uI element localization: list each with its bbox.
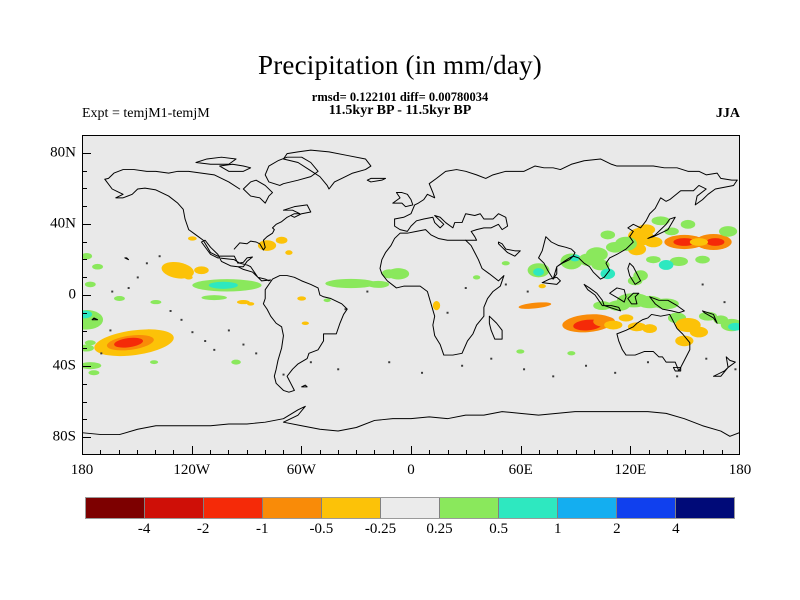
anomaly-contour-patch	[690, 327, 708, 338]
y-tick	[82, 419, 87, 420]
y-axis-label: 40S	[38, 358, 76, 375]
colorbar-segment-1[interactable]	[145, 498, 204, 518]
map-speckle	[180, 319, 182, 321]
map-speckle	[734, 368, 736, 370]
coastline	[380, 230, 504, 355]
coastline	[713, 357, 735, 376]
season-label: JJA	[716, 106, 740, 122]
colorbar-label-5: 0.25	[426, 521, 452, 538]
map-speckle	[421, 372, 423, 374]
anomaly-contour-patch	[706, 238, 724, 246]
colorbar-segment-2[interactable]	[204, 498, 263, 518]
map-speckle	[552, 375, 554, 377]
x-axis-label: 60W	[287, 462, 316, 479]
y-tick	[82, 153, 91, 154]
x-tick	[210, 450, 211, 455]
x-tick	[649, 450, 650, 455]
anomaly-contour-patch	[601, 231, 616, 240]
map-speckle	[159, 255, 161, 257]
anomaly-contour-patch	[473, 275, 480, 279]
anomaly-contour-patch	[231, 360, 240, 365]
map-speckle	[527, 291, 529, 293]
anomaly-contour-patch	[619, 314, 634, 321]
map-speckle	[702, 284, 704, 286]
anomaly-contour-patch	[276, 237, 288, 244]
x-tick	[576, 450, 577, 455]
colorbar-label-1: -2	[197, 521, 210, 538]
x-axis-label: 0	[407, 462, 415, 479]
y-tick	[82, 437, 91, 438]
anomaly-contour-patch	[150, 300, 161, 304]
anomaly-contour-patch	[88, 370, 99, 375]
page-title: Precipitation (in mm/day)	[0, 50, 800, 81]
map-speckle	[647, 361, 649, 363]
x-axis-label: 120E	[614, 462, 646, 479]
x-axis-label: 120W	[173, 462, 210, 479]
map-speckle	[585, 365, 587, 367]
x-tick	[374, 450, 375, 455]
map-speckle	[111, 291, 113, 293]
x-tick	[301, 446, 302, 455]
anomaly-contour-patch	[681, 220, 696, 229]
anomaly-contour-patch	[201, 295, 227, 300]
x-tick	[338, 450, 339, 455]
coastline	[105, 170, 240, 189]
anomaly-contour-patch	[502, 261, 510, 265]
y-tick	[82, 259, 87, 260]
y-tick	[82, 402, 87, 403]
x-tick	[320, 450, 321, 455]
x-axis-label: 180	[71, 462, 94, 479]
y-axis-label: 80S	[38, 429, 76, 446]
x-tick	[448, 450, 449, 455]
coastline	[393, 193, 413, 207]
anomaly-contour-patch	[675, 336, 693, 347]
map-speckle	[146, 262, 148, 264]
anomaly-contour-patch	[690, 238, 708, 246]
map-speckle	[465, 287, 467, 289]
x-tick	[594, 450, 595, 455]
y-tick	[82, 348, 87, 349]
x-tick	[667, 450, 668, 455]
coastline	[542, 277, 560, 284]
colorbar-segment-3[interactable]	[263, 498, 322, 518]
x-axis-label: 60E	[509, 462, 533, 479]
x-tick	[630, 446, 631, 455]
anomaly-contour-patch	[606, 242, 624, 253]
colorbar-label-9: 4	[672, 521, 680, 538]
figure-canvas: Precipitation (in mm/day) rmsd= 0.122101…	[0, 0, 800, 600]
coastline	[243, 180, 272, 203]
y-tick	[82, 277, 87, 278]
y-axis-label: 40N	[38, 215, 76, 232]
map-speckle	[228, 329, 230, 331]
anomaly-contour-patch	[150, 360, 158, 364]
colorbar-segment-7[interactable]	[499, 498, 558, 518]
anomaly-contour-patch	[185, 275, 193, 279]
colorbar-segment-4[interactable]	[322, 498, 381, 518]
colorbar-label-2: -1	[256, 521, 269, 538]
map-speckle	[109, 329, 111, 331]
x-tick	[521, 446, 522, 455]
map-speckle	[213, 349, 215, 351]
map-speckle	[170, 310, 172, 312]
colorbar[interactable]	[85, 497, 735, 519]
coastline	[367, 178, 385, 182]
anomaly-contour-patch	[539, 284, 546, 288]
y-axis-label: 80N	[38, 144, 76, 161]
x-tick	[612, 450, 613, 455]
x-tick	[466, 450, 467, 455]
x-tick	[247, 450, 248, 455]
anomaly-contour-patch	[567, 351, 575, 355]
y-tick	[82, 295, 91, 296]
colorbar-segment-0[interactable]	[86, 498, 145, 518]
map-speckle	[447, 312, 449, 314]
anomaly-contour-patch	[285, 250, 292, 255]
y-tick	[82, 366, 91, 367]
colorbar-segments[interactable]	[85, 497, 735, 519]
y-tick	[82, 313, 87, 314]
anomaly-contour-patch	[92, 264, 103, 270]
coastline	[395, 214, 508, 241]
map-speckle	[283, 374, 285, 376]
y-tick	[82, 331, 87, 332]
colorbar-label-4: -0.25	[365, 521, 396, 538]
map-speckle	[523, 368, 525, 370]
coastline	[125, 258, 129, 260]
anomaly-contour-patch	[642, 324, 657, 333]
map-speckle	[204, 340, 206, 342]
coastline	[283, 150, 370, 189]
anomaly-contour-patch	[85, 282, 96, 288]
colorbar-label-7: 1	[554, 521, 562, 538]
anomaly-contour-patch	[664, 228, 679, 236]
x-tick	[119, 450, 120, 455]
x-tick	[356, 450, 357, 455]
x-tick	[502, 450, 503, 455]
x-tick	[484, 450, 485, 455]
y-tick	[82, 224, 91, 225]
map-speckle	[310, 361, 312, 363]
x-axis-label: 180	[729, 462, 752, 479]
coastline	[196, 157, 236, 164]
anomaly-contour-patch	[719, 226, 737, 237]
map-speckle	[490, 358, 492, 360]
x-tick	[703, 450, 704, 455]
map-speckle	[100, 352, 102, 354]
map-speckle	[461, 365, 463, 367]
anomaly-contour-patch	[652, 216, 670, 225]
map-speckle	[676, 375, 678, 377]
colorbar-segment-9[interactable]	[617, 498, 676, 518]
x-tick	[137, 450, 138, 455]
x-tick	[265, 450, 266, 455]
x-tick	[100, 450, 101, 455]
colorbar-label-0: -4	[138, 521, 151, 538]
y-tick	[82, 171, 87, 172]
anomaly-contour-patch	[533, 268, 544, 276]
coastline	[220, 164, 251, 171]
anomaly-contour-patch	[209, 282, 238, 289]
anomaly-contour-patch	[188, 236, 197, 240]
anomaly-contour-patch	[604, 321, 622, 330]
x-tick	[228, 450, 229, 455]
map-speckle	[191, 331, 193, 333]
anomaly-contour-patch	[586, 247, 608, 261]
map-speckle	[242, 344, 244, 346]
x-tick	[411, 446, 412, 455]
experiment-label: Expt = temjM1-temjM	[82, 106, 210, 122]
map-speckle	[255, 352, 257, 354]
x-tick	[557, 450, 558, 455]
anomaly-contour-patch	[644, 237, 662, 248]
colorbar-segment-5[interactable]	[381, 498, 440, 518]
map-speckle	[724, 301, 726, 303]
x-tick	[393, 450, 394, 455]
colorbar-tick-labels: -4-2-1-0.5-0.250.250.5124	[85, 521, 735, 541]
anomaly-contour-patch	[247, 302, 254, 306]
anomaly-contour-patch	[659, 260, 674, 270]
colorbar-segment-6[interactable]	[440, 498, 499, 518]
coastline-layer	[83, 150, 739, 436]
map-speckle	[366, 291, 368, 293]
y-tick	[82, 384, 87, 385]
map-speckle	[128, 287, 130, 289]
colorbar-label-8: 2	[613, 521, 621, 538]
anomaly-contour-patch	[516, 349, 524, 353]
map-speckle	[388, 361, 390, 363]
anomaly-contour-patch	[297, 296, 306, 300]
coastline	[489, 316, 502, 339]
x-tick	[685, 450, 686, 455]
y-tick	[82, 206, 87, 207]
anomaly-contour-patch	[518, 301, 551, 310]
map-speckle	[505, 284, 507, 286]
coastline	[395, 159, 738, 219]
coastline	[263, 276, 347, 393]
y-axis-label: 0	[38, 287, 76, 304]
world-map-svg	[83, 136, 739, 454]
x-tick	[192, 446, 193, 455]
x-tick	[539, 450, 540, 455]
anomaly-contour-patch	[367, 281, 389, 288]
colorbar-segment-10[interactable]	[676, 498, 734, 518]
map-speckle	[614, 372, 616, 374]
x-tick	[283, 450, 284, 455]
anomaly-contour-patch	[114, 296, 125, 301]
x-tick	[173, 450, 174, 455]
map-speckle	[337, 368, 339, 370]
x-tick	[155, 450, 156, 455]
map-speckle	[705, 358, 707, 360]
anomaly-contour-patch	[637, 224, 655, 235]
x-tick	[722, 450, 723, 455]
coastline	[83, 406, 739, 436]
y-tick	[82, 242, 87, 243]
colorbar-label-3: -0.5	[309, 521, 333, 538]
anomaly-contour-patch	[695, 256, 710, 264]
map-speckle	[137, 276, 139, 278]
anomaly-contour-patch	[85, 340, 96, 345]
map-plot-area	[82, 135, 740, 455]
anomaly-contour-patch	[302, 322, 309, 326]
anomaly-contour-patch	[646, 256, 661, 263]
anomaly-contour-patch	[83, 253, 92, 259]
colorbar-segment-8[interactable]	[558, 498, 617, 518]
colorbar-label-6: 0.5	[489, 521, 508, 538]
coastline	[498, 242, 520, 256]
anomaly-contour-patch	[433, 301, 440, 310]
anomaly-contour-patch	[324, 299, 331, 303]
anomaly-contour-patch	[194, 266, 209, 274]
x-tick	[429, 450, 430, 455]
y-tick	[82, 188, 87, 189]
coastline	[302, 385, 307, 387]
